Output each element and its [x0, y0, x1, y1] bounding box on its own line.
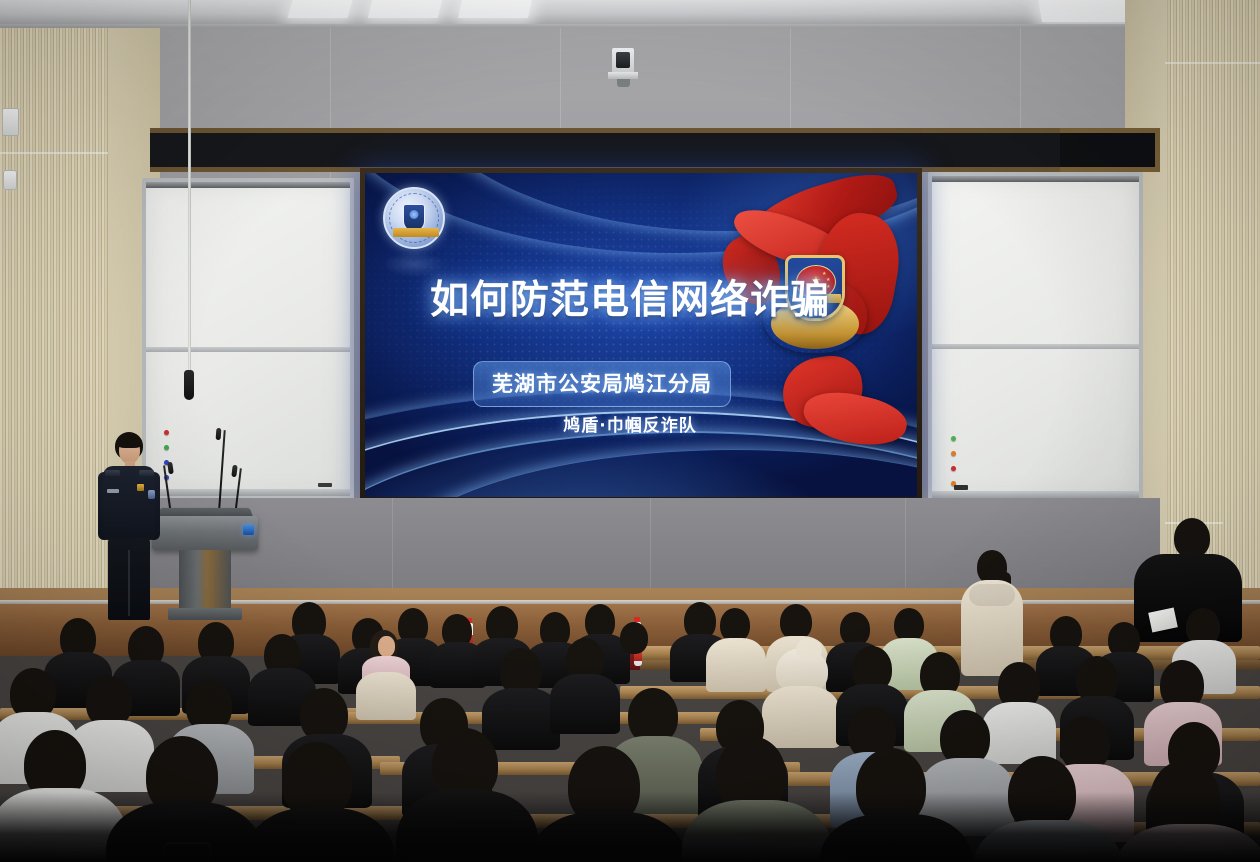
student-head: [620, 622, 648, 654]
ceiling-light: [458, 0, 532, 18]
microphone-head-icon: [216, 428, 222, 440]
ceiling-light: [287, 0, 352, 18]
camera-base: [608, 72, 638, 79]
slide-title: 如何防范电信网络诈骗: [365, 269, 895, 325]
student-coat: [550, 674, 620, 734]
wall-sensor-device: [2, 108, 19, 136]
whiteboard-magnet[interactable]: [951, 466, 956, 471]
police-academy-emblem-icon: [383, 187, 445, 249]
led-display-bezel: ★ ★ ★ ★ ★ 如何防范电信网络诈骗 芜湖市公安局鸠江分局 鸠盾·巾帼反诈队: [360, 168, 922, 502]
left-whiteboard[interactable]: [142, 178, 354, 500]
lecture-hall-photo: ★ ★ ★ ★ ★ 如何防范电信网络诈骗 芜湖市公安局鸠江分局 鸠盾·巾帼反诈队: [0, 0, 1260, 862]
pull-cord-handle[interactable]: [184, 370, 194, 400]
slide-team-name: 鸠盾·巾帼反诈队: [365, 411, 895, 436]
staff-head: [1174, 518, 1210, 558]
wood-acoustic-panel-right: [1165, 0, 1260, 600]
coat-hood: [969, 584, 1015, 606]
camera-mount: [617, 79, 630, 87]
panel-seam: [0, 152, 108, 154]
presenter-epaulette: [105, 470, 120, 476]
wall-dark-band: [150, 128, 1160, 172]
projector-screen-pull-cord[interactable]: [188, 0, 191, 378]
student-coat: [762, 686, 840, 748]
student-coat: [982, 702, 1056, 764]
presenter-chest-badge-icon: [137, 484, 144, 491]
slide-organization: 芜湖市公安局鸠江分局: [473, 361, 731, 407]
podium-status-led: [243, 525, 254, 535]
panel-seam: [1165, 62, 1260, 64]
student-face: [378, 636, 395, 657]
standing-student: [955, 550, 1029, 680]
student-coat: [356, 672, 416, 720]
presenter-arm-patch-icon: [148, 490, 155, 499]
whiteboard-divider: [146, 347, 350, 352]
student-head: [780, 604, 812, 640]
camera-lens-icon: [616, 52, 630, 68]
whiteboard-magnet[interactable]: [164, 445, 169, 450]
emblem-banner: [393, 228, 439, 237]
bottom-shadow: [0, 792, 1260, 862]
whiteboard-divider: [932, 344, 1139, 349]
student-head: [720, 608, 750, 642]
whiteboard-tray: [932, 491, 1139, 498]
whiteboard-magnet[interactable]: [951, 436, 956, 441]
presentation-slide[interactable]: ★ ★ ★ ★ ★ 如何防范电信网络诈骗 芜湖市公安局鸠江分局 鸠盾·巾帼反诈队: [365, 173, 917, 497]
presenter-uniform-torso: [103, 466, 155, 540]
whiteboard-top-rail: [932, 176, 1139, 182]
whiteboard-marker[interactable]: [954, 485, 968, 490]
wall-dark-band-right: [1060, 128, 1160, 172]
presenter-hair-front: [117, 435, 142, 448]
student-head: [894, 608, 924, 642]
student-coat: [706, 638, 766, 692]
whiteboard-marker[interactable]: [318, 483, 332, 487]
whiteboard-tray: [146, 489, 350, 496]
right-whiteboard[interactable]: [928, 172, 1143, 502]
presenter-epaulette: [139, 470, 154, 476]
hat-pompom: [796, 638, 822, 662]
whiteboard-top-rail: [146, 182, 350, 188]
student-coat: [482, 688, 560, 750]
ceiling-light: [368, 0, 442, 18]
whiteboard-magnet[interactable]: [164, 430, 169, 435]
presenter-nameplate: [107, 489, 119, 493]
student-head: [840, 612, 870, 646]
whiteboard-magnet[interactable]: [951, 451, 956, 456]
wall-sensor-device: [3, 170, 17, 190]
